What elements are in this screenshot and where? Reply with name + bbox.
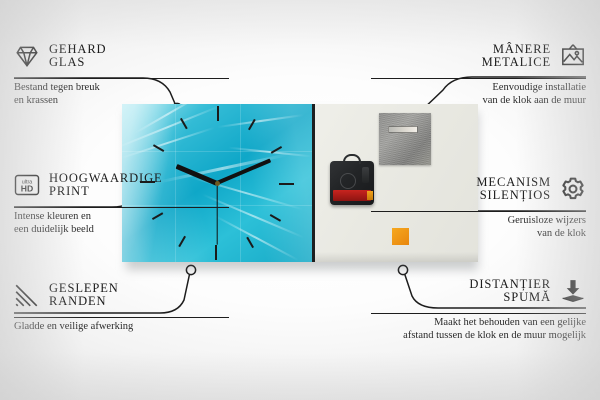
callout-subtitle: Bestand tegen breuk en krassen bbox=[14, 82, 229, 107]
battery bbox=[333, 190, 371, 201]
callout-divider bbox=[14, 78, 229, 79]
diamond-icon bbox=[14, 43, 40, 69]
ultra-hd-badge-icon: ultra HD bbox=[14, 172, 40, 198]
mechanism-dial bbox=[362, 167, 369, 183]
callout-distantier-spuma: DISTANȚIER SPUMĂ Maakt het behouden van … bbox=[371, 271, 586, 342]
callout-divider bbox=[14, 207, 229, 208]
clock-mechanism bbox=[330, 161, 374, 205]
mechanism-hang-loop bbox=[343, 154, 361, 164]
callout-divider bbox=[14, 317, 229, 318]
callout-title: GESLEPEN RANDEN bbox=[49, 282, 119, 309]
gear-icon bbox=[560, 176, 586, 202]
callout-title: HOOGWAARDIGE PRINT bbox=[49, 172, 163, 199]
callout-gehard-glas: GEHARD GLAS Bestand tegen breuk en krass… bbox=[14, 36, 229, 107]
callout-subtitle: Gladde en veilige afwerking bbox=[14, 321, 229, 334]
callout-divider bbox=[371, 313, 586, 314]
callout-header: GEHARD GLAS bbox=[14, 36, 229, 76]
callout-divider bbox=[371, 78, 586, 79]
callout-subtitle: Intense kleuren en een duidelijk beeld bbox=[14, 211, 229, 236]
callout-geslepen-randen: GESLEPEN RANDEN Gladde en veilige afwerk… bbox=[14, 275, 229, 334]
metal-hanger-plate bbox=[379, 113, 431, 165]
svg-text:HD: HD bbox=[21, 184, 33, 194]
infographic-canvas: GEHARD GLAS Bestand tegen breuk en krass… bbox=[0, 0, 600, 400]
spacer-press-icon bbox=[560, 278, 586, 304]
callout-title: GEHARD GLAS bbox=[49, 43, 106, 70]
mechanism-shaft bbox=[340, 173, 356, 189]
callout-mecanism-silentios: MECANISM SILENȚIOS Geruisloze wijzers va… bbox=[371, 169, 586, 240]
callout-subtitle: Eenvoudige installatie van de klok aan d… bbox=[371, 82, 586, 107]
callout-title: MECANISM SILENȚIOS bbox=[476, 176, 551, 203]
callout-manere-metalice: MÂNERE METALICE Eenvoudige installatie v… bbox=[371, 36, 586, 107]
callout-header: MÂNERE METALICE bbox=[371, 36, 586, 76]
callout-header: ultra HD HOOGWAARDIGE PRINT bbox=[14, 165, 229, 205]
hanger-slot bbox=[388, 126, 418, 133]
callout-subtitle: Geruisloze wijzers van de klok bbox=[371, 215, 586, 240]
callout-header: MECANISM SILENȚIOS bbox=[371, 169, 586, 209]
callout-hoogwaardige-print: ultra HD HOOGWAARDIGE PRINT Intense kleu… bbox=[14, 165, 229, 236]
callout-subtitle: Maakt het behouden van een gelijke afsta… bbox=[371, 317, 586, 342]
beveled-edge-icon bbox=[14, 282, 40, 308]
callout-header: DISTANȚIER SPUMĂ bbox=[371, 271, 586, 311]
callout-header: GESLEPEN RANDEN bbox=[14, 275, 229, 315]
callout-divider bbox=[371, 211, 586, 212]
callout-title: MÂNERE METALICE bbox=[482, 43, 551, 70]
picture-frame-hanging-icon bbox=[560, 43, 586, 69]
callout-title: DISTANȚIER SPUMĂ bbox=[469, 278, 551, 305]
